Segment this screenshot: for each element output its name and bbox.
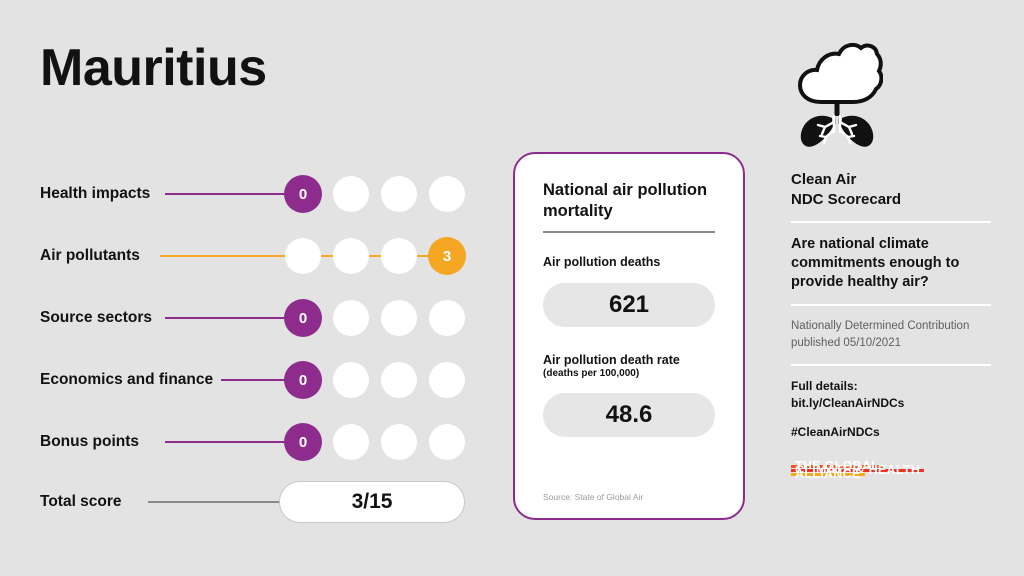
- score-dot-filled: 0: [284, 423, 322, 461]
- total-score-row: Total score3/15: [40, 480, 465, 524]
- score-dot-empty: [429, 424, 465, 460]
- score-dot-empty: [333, 424, 369, 460]
- score-row-label: Economics and finance: [40, 371, 221, 389]
- score-dot-empty: [381, 424, 417, 460]
- score-row-connector: [165, 317, 303, 319]
- score-dot-filled: 0: [284, 361, 322, 399]
- lungs-cloud-icon: [791, 40, 883, 148]
- score-dot-empty: [333, 238, 369, 274]
- score-row: Bonus points0: [40, 418, 465, 466]
- total-score-label: Total score: [40, 493, 130, 511]
- metric-death-rate-value: 48.6: [543, 393, 715, 437]
- score-dot-empty: [381, 300, 417, 336]
- metric-death-rate-sublabel: (deaths per 100,000): [543, 368, 715, 379]
- total-score-value: 3/15: [279, 481, 465, 523]
- right-panel: Clean Air NDC Scorecard Are national cli…: [791, 40, 991, 477]
- score-row: Health impacts0: [40, 170, 465, 218]
- full-details-label: Full details:: [791, 378, 991, 395]
- mortality-card-title: National air pollution mortality: [543, 180, 715, 221]
- score-dots: 3: [285, 238, 465, 274]
- metric-death-rate: Air pollution death rate (deaths per 100…: [543, 353, 715, 437]
- score-dots: 0: [285, 176, 465, 212]
- mortality-card-source: Source: State of Global Air: [543, 492, 643, 502]
- score-dot-empty: [333, 176, 369, 212]
- score-dot-empty: [381, 176, 417, 212]
- score-row-label: Source sectors: [40, 309, 160, 327]
- score-row: Source sectors0: [40, 294, 465, 342]
- brand-title-line2: NDC Scorecard: [791, 190, 991, 210]
- global-climate-health-alliance-logo: THE GLOBAL CLIMATE & HEALTH ALLIANCE: [791, 465, 991, 477]
- metric-deaths-value: 621: [543, 283, 715, 327]
- score-dot-filled: 0: [284, 299, 322, 337]
- total-score-connector: [148, 501, 281, 503]
- score-row-label: Bonus points: [40, 433, 147, 451]
- brand-title: Clean Air NDC Scorecard: [791, 170, 991, 209]
- score-row-connector: [165, 441, 303, 443]
- score-row: Air pollutants3: [40, 232, 465, 280]
- brand-title-line1: Clean Air: [791, 170, 991, 190]
- score-dot-empty: [333, 362, 369, 398]
- score-dot-empty: [429, 300, 465, 336]
- score-dot-filled: 3: [428, 237, 466, 275]
- panel-question: Are national climate commitments enough …: [791, 235, 991, 292]
- mortality-card: National air pollution mortality Air pol…: [513, 152, 745, 520]
- score-dot-empty: [285, 238, 321, 274]
- score-dot-empty: [429, 176, 465, 212]
- score-dots: 0: [285, 424, 465, 460]
- ndc-publication-note: Nationally Determined Contribution publi…: [791, 318, 991, 351]
- metric-deaths: Air pollution deaths 621: [543, 255, 715, 327]
- hashtag: #CleanAirNDCs: [791, 425, 991, 439]
- metric-deaths-label: Air pollution deaths: [543, 255, 715, 269]
- panel-divider-3: [791, 364, 991, 366]
- panel-divider-2: [791, 304, 991, 306]
- score-dot-empty: [381, 362, 417, 398]
- page-title: Mauritius: [40, 42, 267, 94]
- full-details-url[interactable]: bit.ly/CleanAirNDCs: [791, 395, 991, 412]
- score-dots: 0: [285, 362, 465, 398]
- metric-death-rate-label: Air pollution death rate: [543, 353, 715, 367]
- score-rows-container: Health impacts0Air pollutants3Source sec…: [40, 170, 465, 524]
- score-dot-empty: [333, 300, 369, 336]
- alliance-logo-line3: ALLIANCE: [791, 473, 865, 476]
- full-details: Full details: bit.ly/CleanAirNDCs: [791, 378, 991, 412]
- score-dot-filled: 0: [284, 175, 322, 213]
- card-divider: [543, 231, 715, 233]
- score-dot-empty: [381, 238, 417, 274]
- score-row-label: Air pollutants: [40, 247, 148, 265]
- score-dot-empty: [429, 362, 465, 398]
- score-row-label: Health impacts: [40, 185, 158, 203]
- score-dots: 0: [285, 300, 465, 336]
- score-row: Economics and finance0: [40, 356, 465, 404]
- scorecard-page: Mauritius Health impacts0Air pollutants3…: [0, 0, 1024, 576]
- panel-divider-1: [791, 221, 991, 223]
- score-row-connector: [165, 193, 303, 195]
